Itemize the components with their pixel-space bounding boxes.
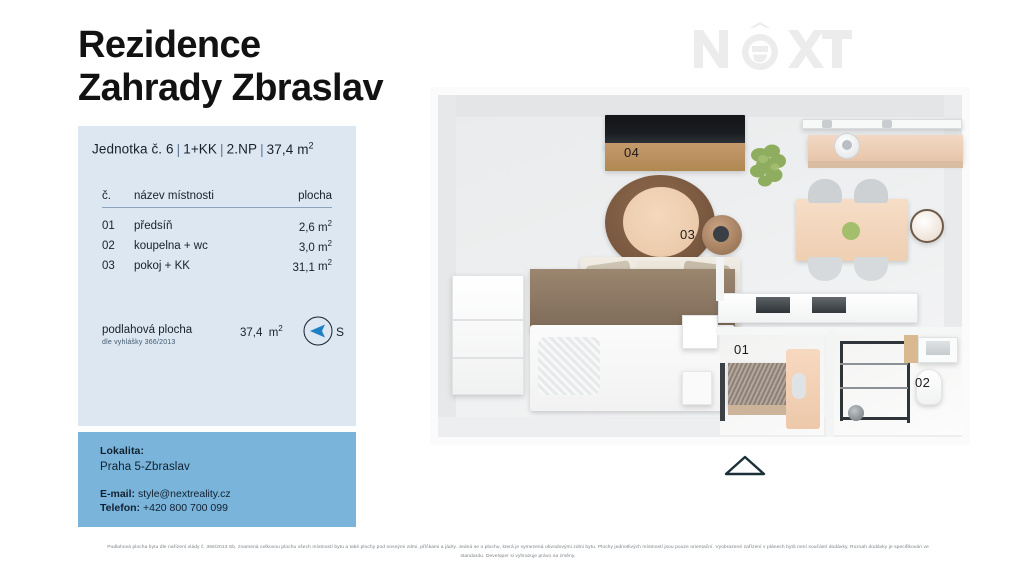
- partition-wall: [826, 331, 834, 437]
- room-area: 2,6 m2: [266, 208, 332, 234]
- shower-frame: [840, 341, 843, 421]
- bed-blanket: [538, 337, 600, 395]
- triangle-up-icon: [722, 452, 768, 478]
- room-area: 3,0 m2: [266, 234, 332, 254]
- bathroom-mirror: [926, 341, 950, 355]
- unit-floor: 2.NP: [227, 142, 257, 157]
- wardrobe: [452, 275, 524, 395]
- entry-door-leaf: [720, 363, 725, 421]
- hallway-label: 01: [734, 342, 749, 357]
- wall-top: [438, 95, 962, 117]
- table-plant: [842, 222, 860, 240]
- unit-summary: Jednotka č. 6|1+KK|2.NP|37,4 m2: [92, 140, 314, 157]
- bathroom-wood-panel: [904, 335, 918, 363]
- table-row: 02 koupelna + wc 3,0 m2: [102, 234, 332, 254]
- kitchen-counter-right: [808, 135, 963, 163]
- room-number: 01: [102, 208, 134, 234]
- dining-chair: [808, 179, 842, 203]
- email-value[interactable]: style@nextreality.cz: [138, 488, 231, 500]
- round-coffee-table: [623, 187, 699, 257]
- unit-number: Jednotka č. 6: [92, 142, 174, 157]
- living-room-label: 03: [680, 227, 695, 242]
- room-name: pokoj + KK: [134, 254, 266, 274]
- table-row: 03 pokoj + KK 31,1 m2: [102, 254, 332, 274]
- unit-separator-3: |: [257, 142, 267, 157]
- sideboard-item: [756, 297, 790, 313]
- locality-label: Lokalita:: [100, 445, 231, 457]
- hallway-bench: [728, 405, 786, 415]
- locality-value: Praha 5-Zbraslav: [100, 461, 231, 473]
- plant-decor: [748, 139, 788, 189]
- floor-area-value: 37,4 m2: [240, 324, 283, 339]
- kitchenette-label: 04: [624, 145, 639, 160]
- room-name: koupelna + wc: [134, 234, 266, 254]
- floor-area-label: podlahová plocha: [102, 324, 192, 336]
- unit-separator-2: |: [217, 142, 227, 157]
- room-area: 31,1 m2: [266, 254, 332, 274]
- shower-glass-line: [840, 363, 908, 365]
- dining-chair: [854, 179, 888, 203]
- kitchen-bowl-inner: [842, 140, 852, 150]
- bathroom-label: 02: [915, 375, 930, 390]
- contact-panel: Lokalita: Praha 5-Zbraslav E-mail: style…: [78, 432, 356, 527]
- email-row: E-mail: style@nextreality.cz: [100, 488, 231, 500]
- phone-label: Telefon:: [100, 502, 140, 514]
- floorplan-page: Rezidence Zahrady Zbraslav Jednotka č. 6…: [0, 0, 1024, 575]
- unit-area: 37,4 m2: [267, 142, 314, 157]
- floor-area-sublabel: dle vyhlášky 366/2013: [102, 339, 175, 346]
- disclaimer-text: Podlahová plocha bytu dle nařízení vlády…: [102, 543, 934, 561]
- floor-area-summary: podlahová plocha dle vyhlášky 366/2013 3…: [102, 322, 334, 362]
- cabinet-handle: [822, 120, 832, 128]
- room-number: 02: [102, 234, 134, 254]
- next-logo: [692, 22, 852, 76]
- door-handle: [792, 373, 806, 399]
- partition-wall: [716, 257, 724, 301]
- cabinet-handle: [882, 120, 892, 128]
- table-row: 01 předsíň 2,6 m2: [102, 208, 332, 234]
- room-name: předsíň: [134, 208, 266, 234]
- phone-row: Telefon: +420 800 700 099: [100, 502, 231, 514]
- phone-value[interactable]: +420 800 700 099: [143, 502, 228, 514]
- compass-direction-label: S: [336, 325, 344, 339]
- shower-drain: [848, 405, 864, 421]
- shower-glass-line: [840, 387, 908, 389]
- page-title: Rezidence Zahrady Zbraslav: [78, 24, 383, 109]
- shower-frame: [840, 341, 910, 344]
- partition-wall: [716, 327, 962, 335]
- hallway-rug: [728, 363, 786, 407]
- header-area: plocha: [266, 190, 332, 208]
- unit-layout: 1+KK: [183, 142, 217, 157]
- email-label: E-mail:: [100, 488, 135, 500]
- wall-clock: [910, 209, 944, 243]
- side-stool-top: [713, 226, 729, 242]
- kitchen-counter-edge: [808, 161, 963, 168]
- header-number: č.: [102, 190, 134, 208]
- compass-arrow-icon: [302, 315, 334, 347]
- wardrobe-divider: [452, 319, 524, 321]
- table-header-row: č. název místnosti plocha: [102, 190, 332, 208]
- rooms-table: č. název místnosti plocha 01 předsíň 2,6…: [102, 190, 332, 273]
- unit-separator-1: |: [174, 142, 184, 157]
- floorplan-image: 04 03 01 02: [430, 87, 970, 445]
- wardrobe-divider: [452, 357, 524, 359]
- room-number: 03: [102, 254, 134, 274]
- unit-info-panel: Jednotka č. 6|1+KK|2.NP|37,4 m2 č. název…: [78, 126, 356, 426]
- sideboard-item: [812, 297, 846, 313]
- nightstand: [682, 371, 712, 405]
- header-room-name: název místnosti: [134, 190, 266, 208]
- nightstand: [682, 315, 718, 349]
